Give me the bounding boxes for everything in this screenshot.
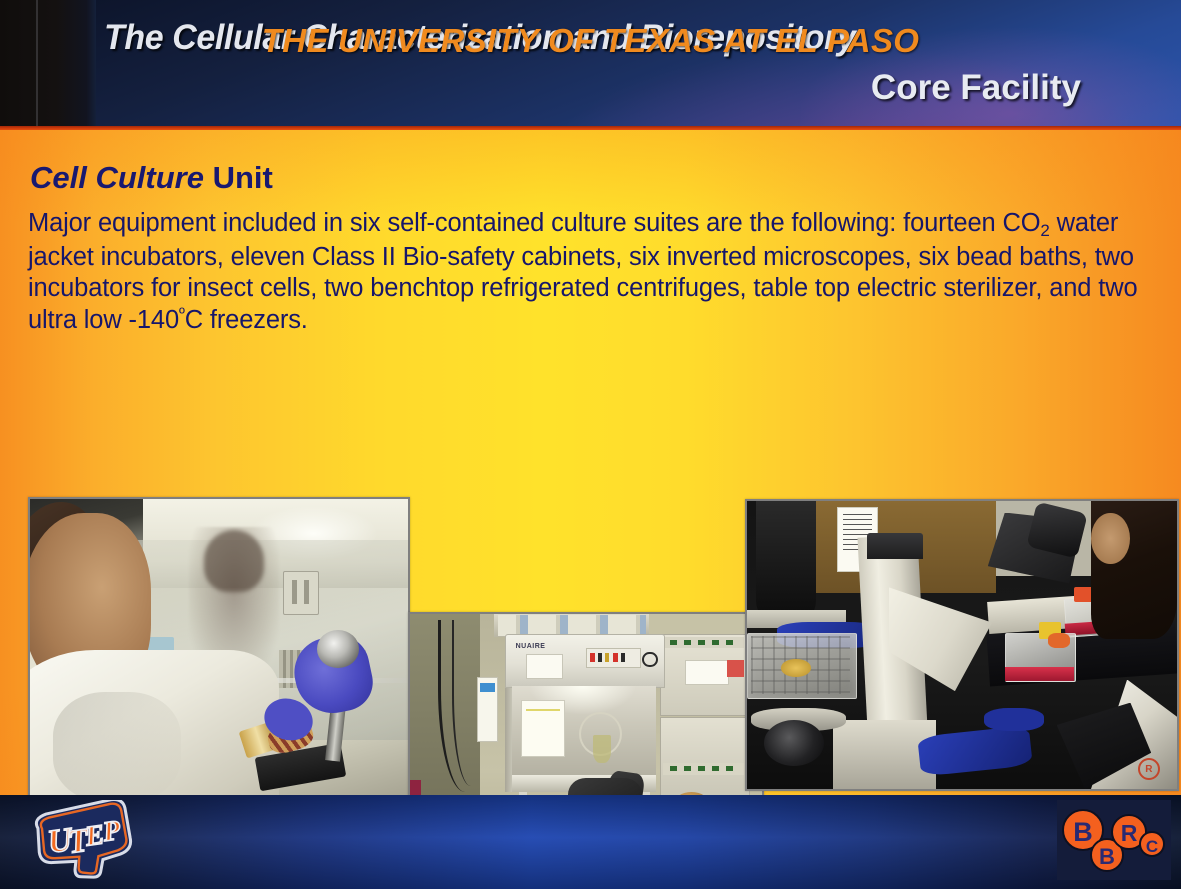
blue-bench-cloth-mid — [984, 708, 1044, 731]
cabinet-outlet-panel — [283, 571, 319, 614]
interior-posted-sheet — [521, 700, 565, 757]
unit-title: Cell Culture Unit — [30, 160, 273, 196]
microscope-lamp-housing — [867, 533, 923, 559]
slide-header: The Cellular Characterization and Biorep… — [0, 0, 1181, 128]
wall-certification-tag — [477, 677, 498, 742]
pipette-controller — [317, 630, 359, 668]
incubator-lower-control-panel — [663, 763, 744, 774]
culture-flask-front-media — [1005, 667, 1074, 681]
culture-flask-front-cap-orange — [1048, 633, 1070, 647]
unit-title-suffix: Unit — [204, 160, 273, 195]
body-paragraph: Major equipment included in six self-con… — [28, 208, 1156, 336]
plate-sample-spot — [781, 659, 811, 676]
photo-1-content — [30, 499, 408, 843]
cabinet-control-knob — [642, 652, 657, 667]
bbrc-logo-icon: B B R C — [1057, 800, 1171, 880]
footer-university-name: THE UNIVERSITY OF TEXAS AT EL PASO — [0, 22, 1181, 60]
photo-inverted-microscope: R — [745, 499, 1179, 791]
photo-3-content: R — [747, 501, 1177, 789]
unit-title-emphasis: Cell Culture — [30, 160, 204, 195]
objective-lens — [764, 720, 824, 766]
photo-researcher-biosafety-cabinet — [28, 497, 410, 845]
incubator-upper-label — [685, 660, 729, 685]
slide-footer — [0, 795, 1181, 889]
utep-logo: U T E P — [30, 800, 138, 880]
bbrc-letter-3: R — [1121, 820, 1138, 846]
co2-subscript: 2 — [1040, 221, 1049, 240]
technician-face — [1091, 513, 1130, 565]
shelf-supply-boxes — [498, 615, 646, 635]
cabinet-paper-label — [526, 654, 563, 679]
background-instrument — [756, 501, 816, 616]
slide: The Cellular Characterization and Biorep… — [0, 0, 1181, 889]
bbrc-logo: B B R C — [1057, 800, 1171, 880]
paragraph-segment-1: Major equipment included in six self-con… — [28, 209, 1040, 237]
lab-coat-fold — [53, 692, 182, 802]
bbrc-letter-1: B — [1073, 817, 1093, 847]
header-left-band — [0, 0, 96, 128]
incubator-upper-control-panel — [663, 637, 744, 648]
incubator-red-sticker — [727, 660, 745, 677]
interior-flask — [593, 735, 611, 764]
cabinet-control-panel — [586, 648, 641, 667]
bbrc-letter-4: C — [1146, 837, 1158, 856]
slide-body: Cell Culture Unit Major equipment includ… — [0, 130, 1181, 795]
nuaire-brand-label: NUAIRE — [516, 643, 546, 650]
utep-logo-icon: U T E P — [30, 800, 138, 880]
glass-reflection-hair — [204, 530, 264, 592]
header-title-line-2: Core Facility — [871, 68, 1081, 108]
incubator-lower — [660, 717, 750, 799]
paragraph-segment-3: C freezers. — [185, 306, 308, 334]
bbrc-letter-2: B — [1099, 844, 1115, 869]
